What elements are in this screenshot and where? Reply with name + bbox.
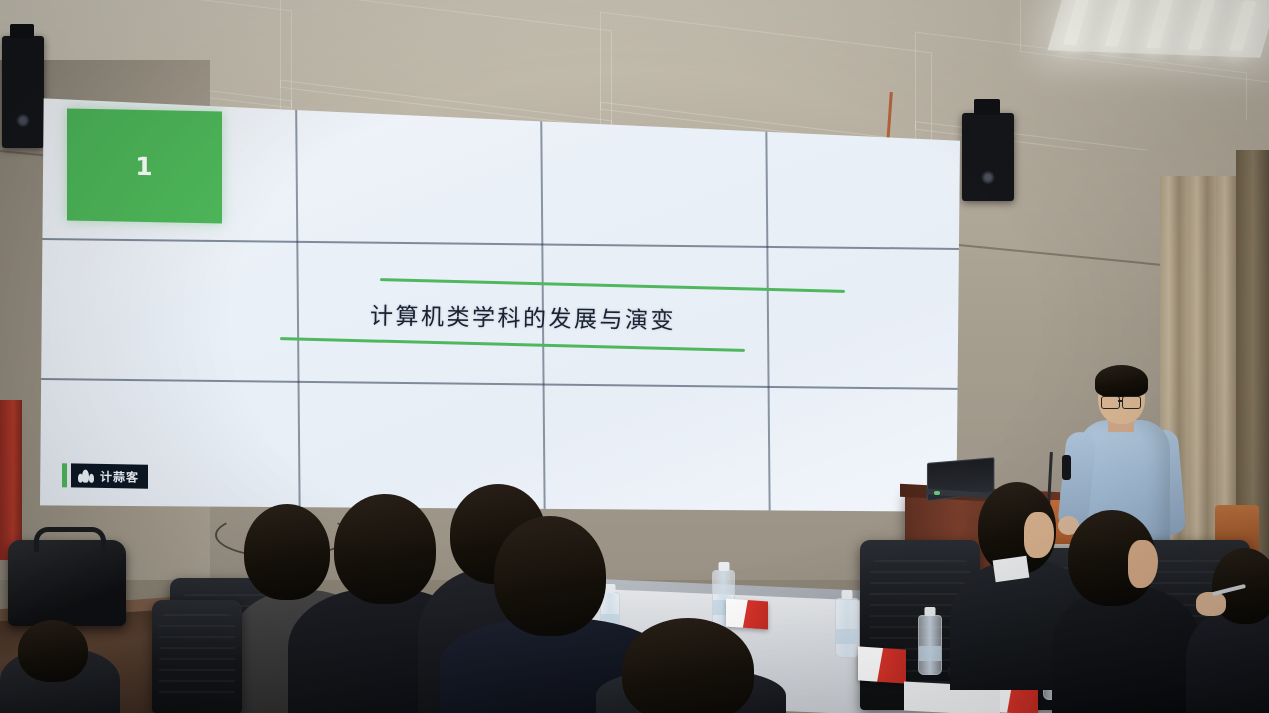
slide-logo: 计蒜客 xyxy=(62,463,148,489)
slide-surface: 1 计算机类学科的发展与演变 计蒜客 xyxy=(40,92,960,516)
slide-number-badge: 1 xyxy=(67,109,222,224)
wall-speaker-right xyxy=(962,113,1014,201)
title-rule-top xyxy=(380,278,845,292)
presentation-photo-scene: 1 计算机类学科的发展与演变 计蒜客 xyxy=(0,0,1269,713)
name-tent-1 xyxy=(726,599,768,630)
black-shoulder-bag xyxy=(8,540,126,626)
audience-head-2 xyxy=(334,494,436,604)
garlic-icon xyxy=(78,469,95,482)
name-tent-2 xyxy=(858,646,906,683)
audience-head-4 xyxy=(494,516,606,636)
panel-bezel-h1 xyxy=(40,238,962,249)
audience-head-1 xyxy=(244,504,330,600)
audience-shoulders-8 xyxy=(1186,608,1269,713)
audience-collar-6 xyxy=(993,556,1030,583)
audience-face-6 xyxy=(1024,512,1054,558)
audience-head-9 xyxy=(18,620,88,682)
audience-shoulders-7 xyxy=(1052,586,1202,713)
presenter-hair xyxy=(1095,365,1148,397)
slide-title: 计算机类学科的发展与演变 xyxy=(370,297,676,336)
slide-title-block: 计算机类学科的发展与演变 xyxy=(220,277,850,367)
audience-head-5-ponytail xyxy=(622,618,754,713)
presentation-clicker[interactable] xyxy=(1062,455,1071,480)
logo-accent-bar xyxy=(62,463,67,487)
water-bottle-2 xyxy=(835,598,859,658)
presenter-glasses-bridge xyxy=(1118,400,1123,402)
logo-badge: 计蒜客 xyxy=(71,463,148,488)
laptop-indicator-light xyxy=(934,491,940,495)
chair-back-far-left xyxy=(152,600,242,713)
logo-text: 计蒜客 xyxy=(100,467,139,485)
title-rule-bottom xyxy=(280,337,745,351)
water-bottle-3 xyxy=(918,615,942,675)
slide-number-text: 1 xyxy=(135,151,153,180)
red-banner-edge xyxy=(0,400,22,560)
bag-handle xyxy=(34,527,106,552)
wall-speaker-left xyxy=(2,36,44,148)
audience-hand-with-pen xyxy=(1196,592,1226,616)
video-wall-screen[interactable]: 1 计算机类学科的发展与演变 计蒜客 xyxy=(40,92,960,516)
ceiling-light-panel xyxy=(1047,0,1269,58)
panel-bezel-h2 xyxy=(40,378,962,389)
presenter-glasses-left-lens xyxy=(1101,396,1120,409)
presenter-glasses-right-lens xyxy=(1122,396,1141,409)
